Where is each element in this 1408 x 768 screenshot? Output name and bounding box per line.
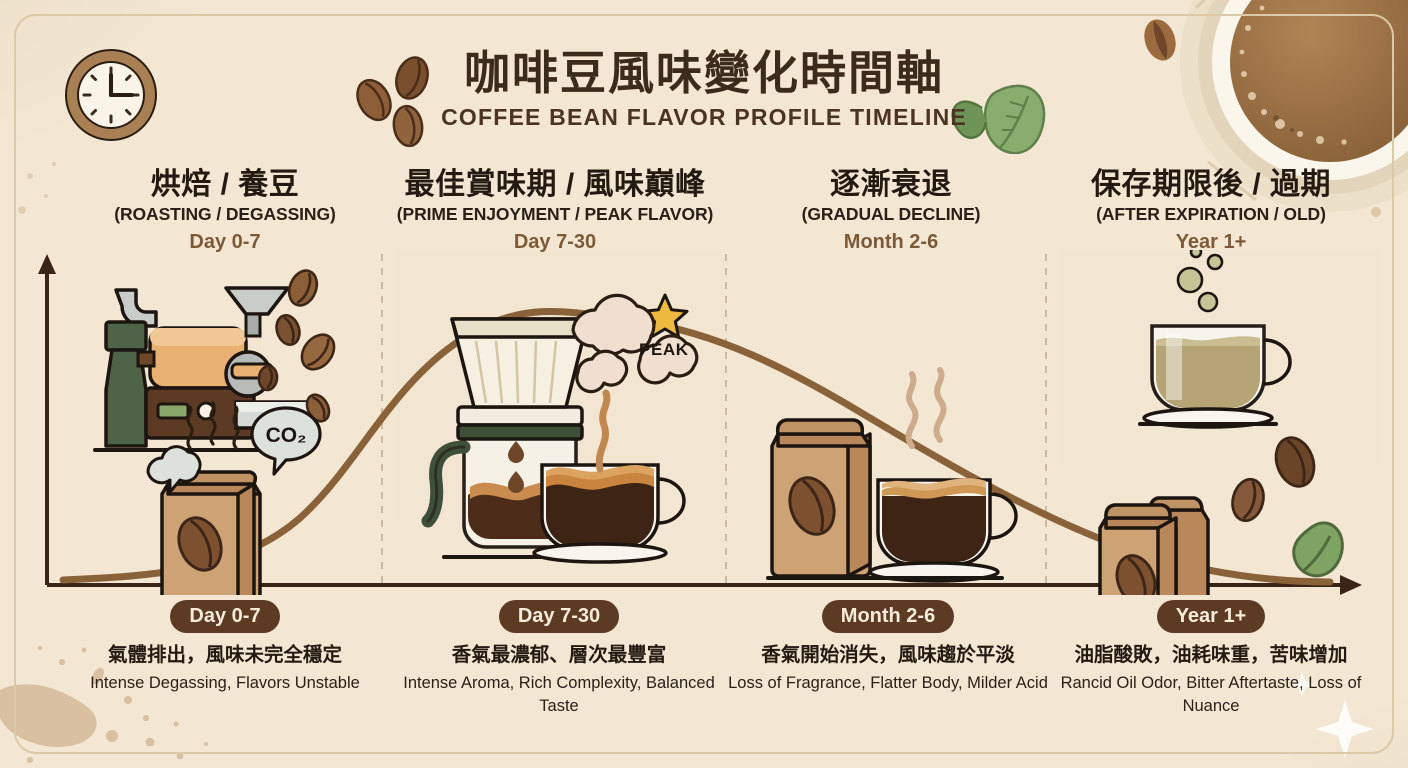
- stage-title-en: (ROASTING / DEGASSING): [60, 204, 390, 225]
- stage-footer-1: Day 0-7 氣體排出，風味未完全穩定 Intense Degassing, …: [58, 600, 392, 695]
- stage-footer-2: Day 7-30 香氣最濃郁、層次最豐富 Intense Aroma, Rich…: [390, 600, 728, 717]
- status-badge: Month 2-6: [822, 600, 954, 633]
- status-badge: Year 1+: [1157, 600, 1266, 633]
- stale-coffee-cup-icon: [1140, 326, 1290, 427]
- infographic-canvas: 咖啡豆風味變化時間軸 COFFEE BEAN FLAVOR PROFILE TI…: [0, 0, 1408, 768]
- co2-bubble-icon: CO₂: [252, 408, 320, 474]
- steam-icon: [909, 370, 944, 446]
- stage-title-zh: 烘焙 / 養豆: [60, 168, 390, 202]
- stage-title-en: (AFTER EXPIRATION / OLD): [1046, 204, 1376, 225]
- coffee-bag-icon: [162, 472, 260, 595]
- coffee-cup-icon: [866, 478, 1016, 581]
- caption-zh: 香氣開始消失，風味趨於平淡: [726, 643, 1050, 667]
- stage-footer-4: Year 1+ 油脂酸敗，油耗味重，苦味增加 Rancid Oil Odor, …: [1046, 600, 1376, 717]
- caption-en: Intense Aroma, Rich Complexity, Balanced…: [390, 672, 728, 717]
- stage-title-en: (GRADUAL DECLINE): [726, 204, 1056, 225]
- co2-label: CO₂: [266, 424, 307, 447]
- stage-title-zh: 逐漸衰退: [726, 168, 1056, 202]
- caption-zh: 香氣最濃郁、層次最豐富: [390, 643, 728, 667]
- stage-footers: Day 0-7 氣體排出，風味未完全穩定 Intense Degassing, …: [0, 600, 1408, 760]
- flavor-curve-chart: CO₂: [0, 250, 1408, 595]
- leaf-icon: [1294, 523, 1343, 576]
- stage-title-zh: 最佳賞味期 / 風味巔峰: [382, 168, 728, 202]
- caption-en: Intense Degassing, Flavors Unstable: [58, 672, 392, 694]
- stage-header-3: 逐漸衰退 (GRADUAL DECLINE) Month 2-6: [726, 168, 1056, 254]
- page-title-en: COFFEE BEAN FLAVOR PROFILE TIMELINE: [0, 104, 1408, 131]
- caption-en: Loss of Fragrance, Flatter Body, Milder …: [726, 672, 1050, 694]
- stage-footer-3: Month 2-6 香氣開始消失，風味趨於平淡 Loss of Fragranc…: [726, 600, 1050, 695]
- stage-title-en: (PRIME ENJOYMENT / PEAK FLAVOR): [382, 204, 728, 225]
- stage-title-zh: 保存期限後 / 過期: [1046, 168, 1376, 202]
- status-badge: Day 0-7: [170, 600, 279, 633]
- stage-header-2: 最佳賞味期 / 風味巔峰 (PRIME ENJOYMENT / PEAK FLA…: [382, 168, 728, 254]
- stage-header-4: 保存期限後 / 過期 (AFTER EXPIRATION / OLD) Year…: [1046, 168, 1376, 254]
- page-title-block: 咖啡豆風味變化時間軸 COFFEE BEAN FLAVOR PROFILE TI…: [0, 48, 1408, 131]
- peak-label: PEAK: [639, 340, 689, 360]
- page-title-zh: 咖啡豆風味變化時間軸: [0, 48, 1408, 99]
- caption-zh: 油脂酸敗，油耗味重，苦味增加: [1046, 643, 1376, 667]
- coffee-beans-icon: [1228, 432, 1320, 524]
- caption-zh: 氣體排出，風味未完全穩定: [58, 643, 392, 667]
- caption-en: Rancid Oil Odor, Bitter Aftertaste, Loss…: [1046, 672, 1376, 717]
- stage-header-1: 烘焙 / 養豆 (ROASTING / DEGASSING) Day 0-7: [60, 168, 390, 254]
- coffee-bag-icon: [1100, 498, 1208, 595]
- bubble-icon: [1178, 250, 1222, 311]
- coffee-bag-icon: [768, 420, 878, 578]
- status-badge: Day 7-30: [499, 600, 619, 633]
